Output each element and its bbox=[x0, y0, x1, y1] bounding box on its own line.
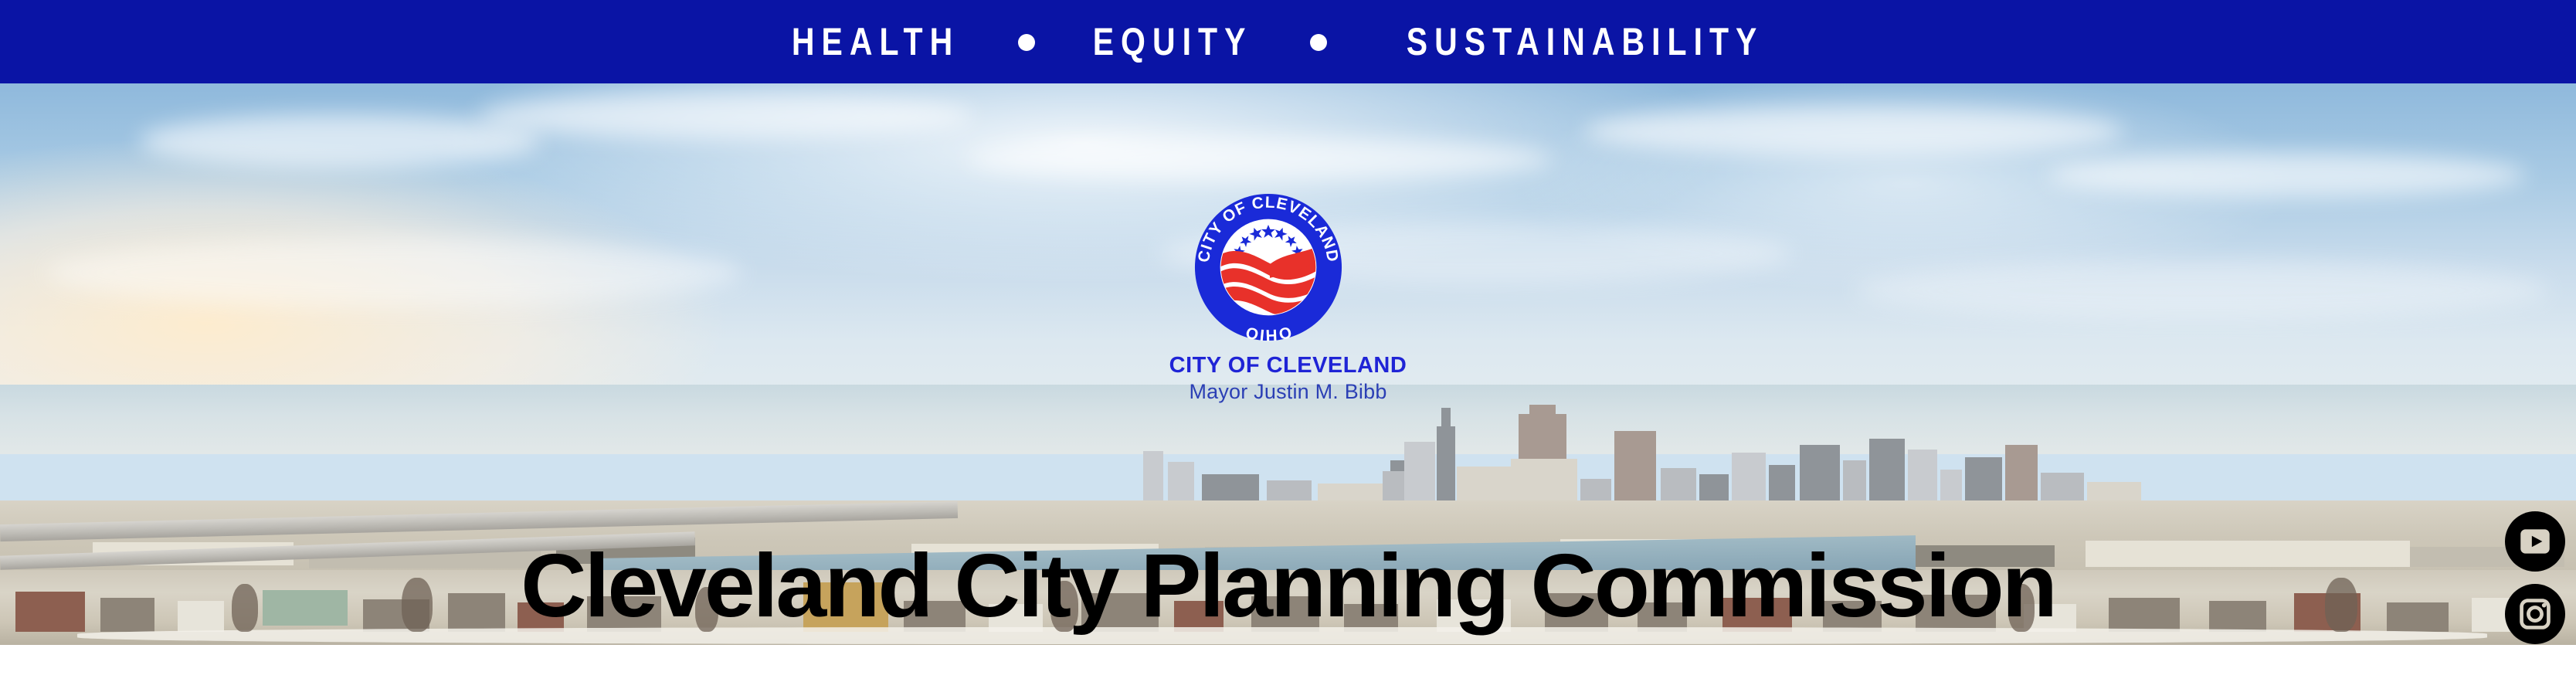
hero-photo: CITY OF CLEVELAND OHIO CITY OF CLEVELAND… bbox=[0, 83, 2576, 645]
cloud-wisp bbox=[1854, 261, 2549, 320]
cloud-wisp bbox=[966, 137, 1553, 181]
downtown-skyline bbox=[0, 408, 2576, 516]
motto-word-sustainability: SUSTAINABILITY bbox=[1407, 22, 1764, 61]
page-root: HEALTH EQUITY SUSTAINABILITY bbox=[0, 0, 2576, 682]
cloud-wisp bbox=[46, 238, 742, 307]
youtube-link[interactable] bbox=[2505, 511, 2565, 572]
bullet-dot-icon-1 bbox=[1018, 34, 1035, 51]
motto-word-equity: EQUITY bbox=[1093, 22, 1253, 61]
cloud-wisp bbox=[1583, 107, 2124, 156]
motto-word-health: HEALTH bbox=[792, 22, 959, 61]
page-title: Cleveland City Planning Commission bbox=[0, 541, 2576, 630]
mayor-name-label: Mayor Justin M. Bibb bbox=[0, 380, 2576, 404]
cloud-wisp bbox=[2047, 153, 2526, 198]
city-of-cleveland-seal-icon: CITY OF CLEVELAND OHIO bbox=[1192, 191, 1345, 344]
cloud-wisp bbox=[479, 93, 973, 139]
instagram-link[interactable] bbox=[2505, 584, 2565, 644]
cloud-wisp bbox=[139, 114, 541, 168]
city-name-label: CITY OF CLEVELAND bbox=[0, 353, 2576, 378]
instagram-icon bbox=[2516, 595, 2554, 633]
motto-banner: HEALTH EQUITY SUSTAINABILITY bbox=[0, 0, 2576, 83]
bullet-dot-icon-2 bbox=[1310, 34, 1327, 51]
city-seal: CITY OF CLEVELAND OHIO bbox=[1192, 191, 1345, 344]
social-links bbox=[2505, 511, 2565, 645]
youtube-icon bbox=[2516, 522, 2554, 561]
